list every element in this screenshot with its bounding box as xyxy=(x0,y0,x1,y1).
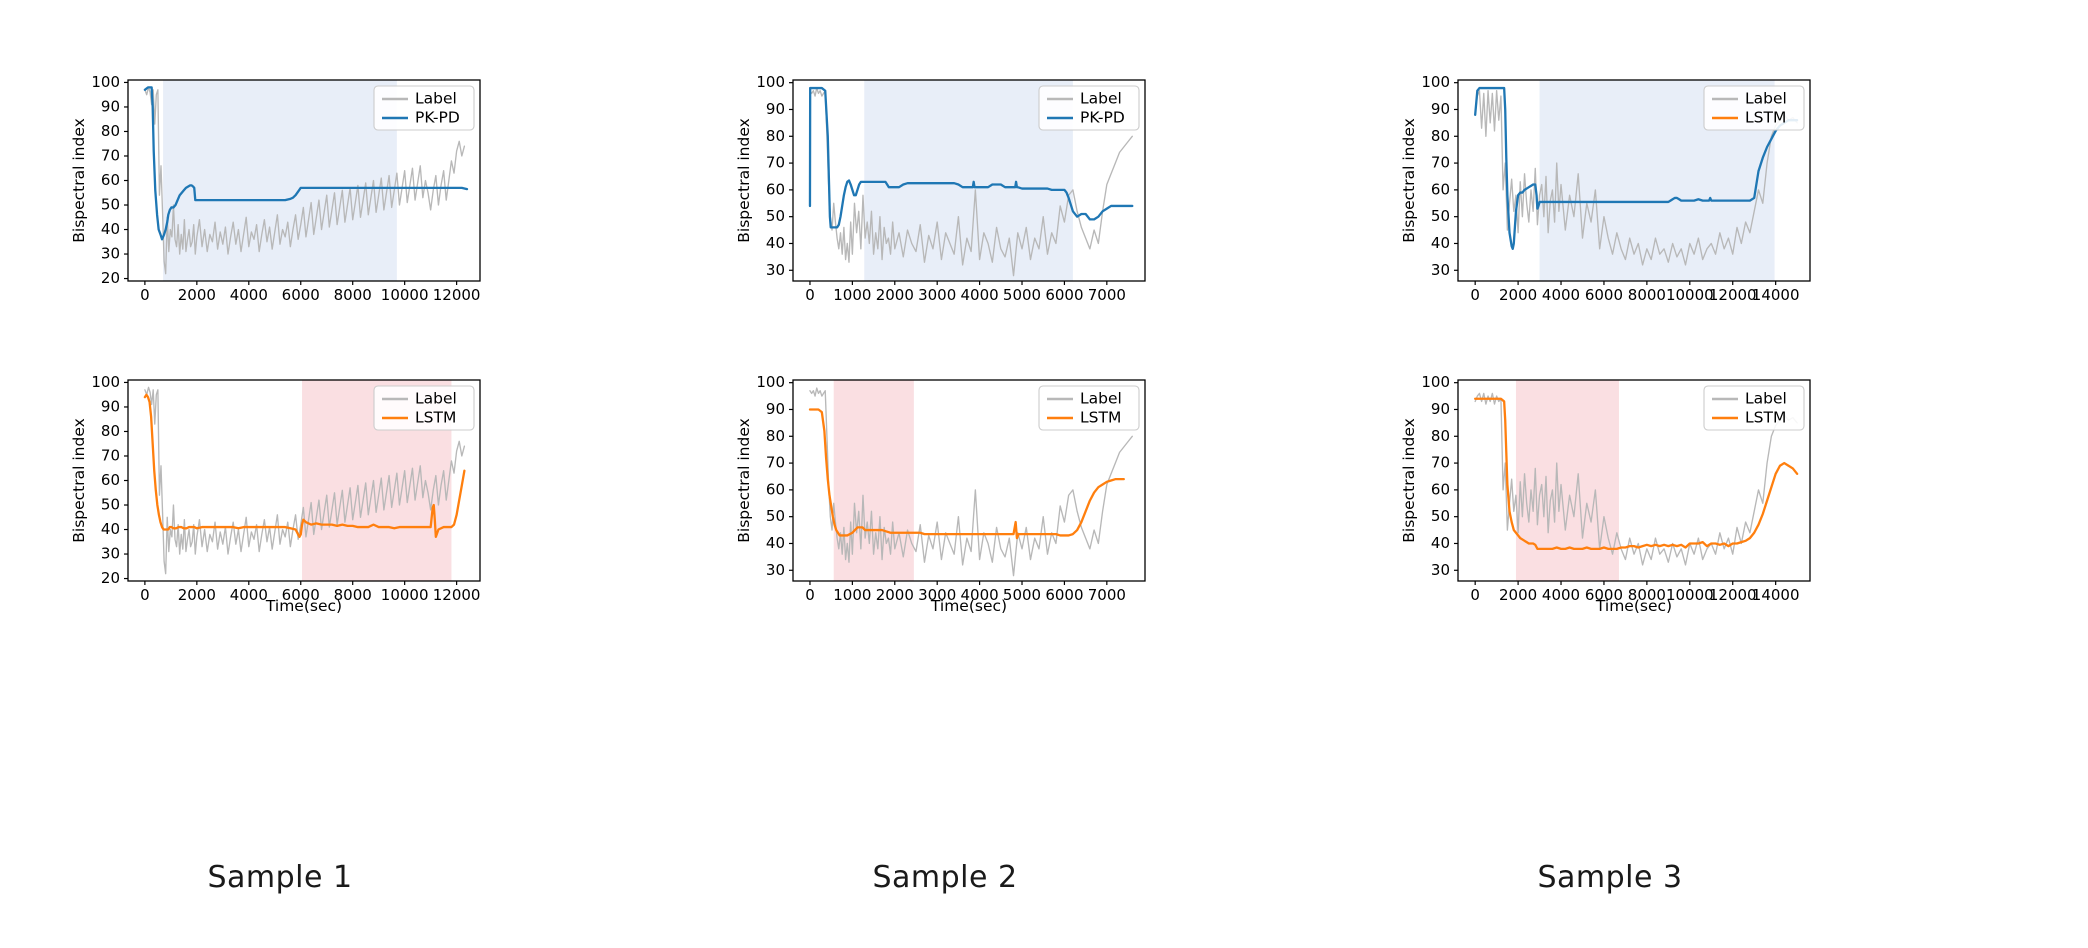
legend-label-lstm: LSTM xyxy=(415,409,456,427)
x-tick-label: 4000 xyxy=(230,286,268,304)
y-tick-label: 90 xyxy=(766,400,785,418)
y-tick-label: 70 xyxy=(101,146,120,164)
y-tick-label: 70 xyxy=(766,454,785,472)
figure-root: 2030405060708090100020004000600080001000… xyxy=(0,0,2088,948)
y-tick-label: 30 xyxy=(766,561,785,579)
x-tick-label: 10000 xyxy=(381,286,429,304)
x-tick-label: 14000 xyxy=(1752,586,1800,604)
plot-panel-sample2-lstm: 3040506070809010001000200030004000500060… xyxy=(735,370,1155,615)
x-tick-label: 3000 xyxy=(918,286,956,304)
column-caption-3: Sample 3 xyxy=(1400,860,1820,895)
legend-label-label: Label xyxy=(1080,390,1122,408)
x-tick-label: 0 xyxy=(140,286,150,304)
y-axis-title: Bispectral index xyxy=(70,118,88,243)
x-tick-label: 6000 xyxy=(1585,286,1623,304)
x-tick-label: 7000 xyxy=(1088,586,1126,604)
x-tick-label: 12000 xyxy=(1709,286,1757,304)
x-tick-label: 6000 xyxy=(282,286,320,304)
column-caption-1: Sample 1 xyxy=(70,860,490,895)
y-axis-title: Bispectral index xyxy=(735,418,753,543)
y-tick-label: 70 xyxy=(101,446,120,464)
x-axis-title: Time(sec) xyxy=(265,597,342,615)
y-tick-label: 90 xyxy=(766,100,785,118)
plot-panel-sample3-pkpd: 3040506070809010002000400060008000100001… xyxy=(1400,70,1820,315)
y-tick-label: 80 xyxy=(101,422,120,440)
x-tick-label: 12000 xyxy=(433,286,481,304)
y-tick-label: 80 xyxy=(766,127,785,145)
y-tick-label: 70 xyxy=(1431,454,1450,472)
x-tick-label: 4000 xyxy=(1542,586,1580,604)
y-tick-label: 60 xyxy=(1431,480,1450,498)
x-tick-label: 0 xyxy=(1470,586,1480,604)
y-tick-label: 60 xyxy=(766,480,785,498)
y-axis-title: Bispectral index xyxy=(1400,418,1418,543)
y-tick-label: 40 xyxy=(1431,534,1450,552)
x-tick-label: 8000 xyxy=(1628,286,1666,304)
y-axis-title: Bispectral index xyxy=(735,118,753,243)
x-tick-label: 2000 xyxy=(178,586,216,604)
plot-panel-sample3-lstm: 3040506070809010002000400060008000100001… xyxy=(1400,370,1820,615)
y-tick-label: 50 xyxy=(766,507,785,525)
y-tick-label: 80 xyxy=(766,427,785,445)
y-tick-label: 30 xyxy=(101,545,120,563)
y-tick-label: 50 xyxy=(1431,507,1450,525)
x-tick-label: 2000 xyxy=(876,586,914,604)
y-tick-label: 70 xyxy=(766,154,785,172)
x-tick-label: 14000 xyxy=(1752,286,1800,304)
y-tick-label: 40 xyxy=(1431,234,1450,252)
y-tick-label: 100 xyxy=(756,73,785,91)
x-tick-label: 2000 xyxy=(178,286,216,304)
x-tick-label: 2000 xyxy=(1499,286,1537,304)
legend-label-pk-pd: PK-PD xyxy=(415,109,460,127)
x-tick-label: 10000 xyxy=(381,586,429,604)
legend-label-lstm: LSTM xyxy=(1745,109,1786,127)
x-tick-label: 6000 xyxy=(1045,586,1083,604)
x-tick-label: 0 xyxy=(1470,286,1480,304)
legend-label-label: Label xyxy=(1745,90,1787,108)
y-axis-title: Bispectral index xyxy=(70,418,88,543)
y-tick-label: 50 xyxy=(101,496,120,514)
y-tick-label: 50 xyxy=(766,207,785,225)
y-tick-label: 80 xyxy=(1431,127,1450,145)
y-axis-title: Bispectral index xyxy=(1400,118,1418,243)
x-tick-label: 0 xyxy=(805,586,815,604)
x-tick-label: 10000 xyxy=(1666,286,1714,304)
y-tick-label: 30 xyxy=(1431,561,1450,579)
y-tick-label: 90 xyxy=(101,97,120,115)
y-tick-label: 30 xyxy=(766,261,785,279)
y-tick-label: 20 xyxy=(101,569,120,587)
x-tick-label: 5000 xyxy=(1003,286,1041,304)
column-caption-2: Sample 2 xyxy=(735,860,1155,895)
x-tick-label: 5000 xyxy=(1003,586,1041,604)
y-tick-label: 90 xyxy=(1431,100,1450,118)
y-tick-label: 40 xyxy=(766,234,785,252)
y-tick-label: 60 xyxy=(766,180,785,198)
x-tick-label: 1000 xyxy=(833,586,871,604)
x-tick-label: 2000 xyxy=(876,286,914,304)
x-tick-label: 7000 xyxy=(1088,286,1126,304)
y-tick-label: 50 xyxy=(101,196,120,214)
y-tick-label: 40 xyxy=(101,520,120,538)
y-tick-label: 80 xyxy=(1431,427,1450,445)
y-tick-label: 60 xyxy=(101,471,120,489)
shaded-region xyxy=(163,80,397,281)
y-tick-label: 100 xyxy=(91,373,120,391)
x-tick-label: 4000 xyxy=(230,586,268,604)
y-tick-label: 100 xyxy=(1421,73,1450,91)
y-tick-label: 60 xyxy=(1431,180,1450,198)
legend-label-pk-pd: PK-PD xyxy=(1080,109,1125,127)
y-tick-label: 90 xyxy=(1431,400,1450,418)
legend-label-lstm: LSTM xyxy=(1080,409,1121,427)
legend-label-label: Label xyxy=(415,390,457,408)
x-tick-label: 10000 xyxy=(1666,586,1714,604)
y-tick-label: 90 xyxy=(101,397,120,415)
x-tick-label: 1000 xyxy=(833,286,871,304)
shaded-region xyxy=(1516,380,1619,581)
x-tick-label: 2000 xyxy=(1499,586,1537,604)
y-tick-label: 40 xyxy=(101,220,120,238)
plot-panel-sample1-pkpd: 2030405060708090100020004000600080001000… xyxy=(70,70,490,315)
x-tick-label: 0 xyxy=(805,286,815,304)
y-tick-label: 100 xyxy=(91,73,120,91)
legend-label-lstm: LSTM xyxy=(1745,409,1786,427)
y-tick-label: 100 xyxy=(756,373,785,391)
y-tick-label: 50 xyxy=(1431,207,1450,225)
x-tick-label: 4000 xyxy=(1542,286,1580,304)
y-tick-label: 20 xyxy=(101,269,120,287)
x-axis-title: Time(sec) xyxy=(930,597,1007,615)
y-tick-label: 60 xyxy=(101,171,120,189)
legend-label-label: Label xyxy=(415,90,457,108)
y-tick-label: 40 xyxy=(766,534,785,552)
plot-panel-sample2-pkpd: 3040506070809010001000200030004000500060… xyxy=(735,70,1155,315)
x-axis-title: Time(sec) xyxy=(1595,597,1672,615)
y-tick-label: 70 xyxy=(1431,154,1450,172)
x-tick-label: 6000 xyxy=(1045,286,1083,304)
x-tick-label: 12000 xyxy=(433,586,481,604)
legend-label-label: Label xyxy=(1080,90,1122,108)
y-tick-label: 80 xyxy=(101,122,120,140)
y-tick-label: 30 xyxy=(101,245,120,263)
legend-label-label: Label xyxy=(1745,390,1787,408)
plot-panel-sample1-lstm: 2030405060708090100020004000600080001000… xyxy=(70,370,490,615)
y-tick-label: 100 xyxy=(1421,373,1450,391)
y-tick-label: 30 xyxy=(1431,261,1450,279)
x-tick-label: 4000 xyxy=(961,286,999,304)
x-tick-label: 12000 xyxy=(1709,586,1757,604)
x-tick-label: 8000 xyxy=(334,286,372,304)
x-tick-label: 0 xyxy=(140,586,150,604)
